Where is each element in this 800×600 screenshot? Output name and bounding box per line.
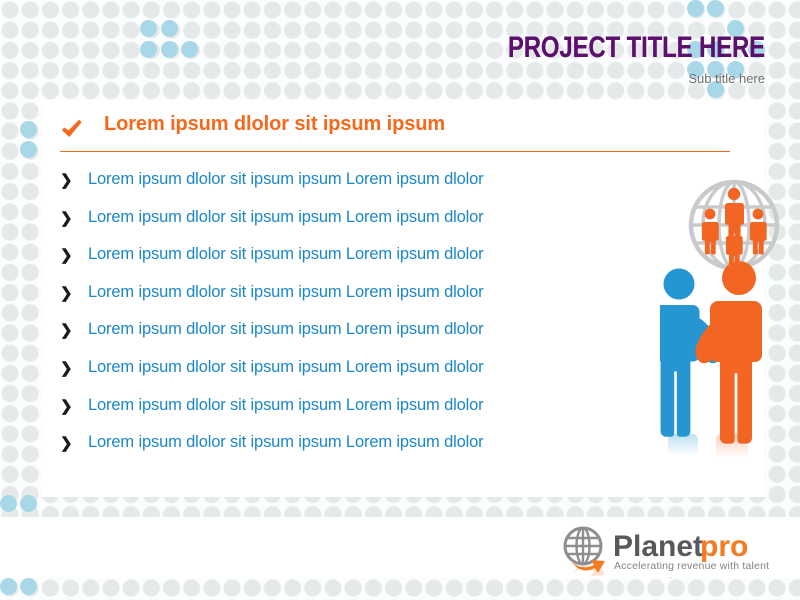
accent-dot	[161, 20, 178, 37]
dot-pattern-footer-strip	[0, 578, 800, 600]
accent-dot	[687, 0, 704, 17]
section-heading-rule	[60, 151, 730, 152]
accent-dot	[140, 20, 157, 37]
list-item-label: Lorem ipsum dlolor sit ipsum ipsum Lorem…	[88, 245, 484, 264]
logo-tagline: Accelerating revenue with talent	[614, 560, 769, 572]
list-item-label: Lorem ipsum dlolor sit ipsum ipsum Lorem…	[88, 433, 484, 452]
list-item: ❯Lorem ipsum dlolor sit ipsum ipsum Lore…	[60, 208, 620, 246]
accent-dot	[0, 578, 17, 595]
accent-dot	[707, 0, 724, 17]
chevron-right-icon: ❯	[60, 173, 73, 189]
accent-dot	[20, 121, 37, 138]
figure-right-orange	[693, 261, 762, 444]
list-item-label: Lorem ipsum dlolor sit ipsum ipsum Lorem…	[88, 320, 484, 339]
page-title: PROJECT TITLE HERE	[429, 32, 765, 64]
chevron-right-icon: ❯	[60, 211, 73, 227]
list-item-label: Lorem ipsum dlolor sit ipsum ipsum Lorem…	[88, 208, 484, 227]
chevron-right-icon: ❯	[60, 436, 73, 452]
bullet-list: ❯Lorem ipsum dlolor sit ipsum ipsum Lore…	[60, 170, 620, 471]
list-item: ❯Lorem ipsum dlolor sit ipsum ipsum Lore…	[60, 245, 620, 283]
chevron-right-icon: ❯	[60, 248, 73, 264]
chevron-right-icon: ❯	[60, 323, 73, 339]
logo-brand-pro: pro	[700, 530, 748, 563]
slide-header: PROJECT TITLE HERE Sub title here	[345, 32, 765, 86]
list-item: ❯Lorem ipsum dlolor sit ipsum ipsum Lore…	[60, 396, 620, 434]
list-item: ❯Lorem ipsum dlolor sit ipsum ipsum Lore…	[60, 433, 620, 471]
check-icon	[60, 118, 84, 142]
page-subtitle: Sub title here	[345, 71, 765, 86]
slide-root: PROJECT TITLE HERE Sub title here Lorem …	[0, 0, 800, 600]
list-item: ❯Lorem ipsum dlolor sit ipsum ipsum Lore…	[60, 358, 620, 396]
accent-dot	[20, 141, 37, 158]
footer-bar: Planet pro Accelerating revenue with tal…	[0, 517, 800, 578]
logo-brand-planet: Planet	[613, 530, 703, 563]
list-item-label: Lorem ipsum dlolor sit ipsum ipsum Lorem…	[88, 396, 484, 415]
list-item-label: Lorem ipsum dlolor sit ipsum ipsum Lorem…	[88, 358, 484, 377]
chevron-right-icon: ❯	[60, 399, 73, 415]
globe-graphic	[684, 182, 784, 268]
chevron-right-icon: ❯	[60, 286, 73, 302]
list-item-label: Lorem ipsum dlolor sit ipsum ipsum Lorem…	[88, 170, 484, 189]
logo-tagline-reflection: Accelerating revenue with talent	[614, 576, 769, 578]
accent-dot	[0, 495, 17, 512]
figure-reflections	[668, 434, 748, 458]
accent-dot	[140, 41, 157, 58]
content-panel: Lorem ipsum dlolor sit ipsum ipsum ❯Lore…	[42, 100, 765, 497]
chevron-right-icon: ❯	[60, 361, 73, 377]
section-heading: Lorem ipsum dlolor sit ipsum ipsum	[60, 113, 730, 157]
planetpro-logo: Planet pro Accelerating revenue with tal…	[558, 522, 778, 578]
accent-dot	[20, 578, 37, 595]
accent-dot	[181, 41, 198, 58]
accent-dot	[20, 495, 37, 512]
list-item: ❯Lorem ipsum dlolor sit ipsum ipsum Lore…	[60, 283, 620, 321]
list-item-label: Lorem ipsum dlolor sit ipsum ipsum Lorem…	[88, 283, 484, 302]
list-item: ❯Lorem ipsum dlolor sit ipsum ipsum Lore…	[60, 320, 620, 358]
section-heading-text: Lorem ipsum dlolor sit ipsum ipsum	[104, 113, 445, 136]
list-item: ❯Lorem ipsum dlolor sit ipsum ipsum Lore…	[60, 170, 620, 208]
accent-dot	[161, 41, 178, 58]
handshake-globe-illustration	[660, 172, 800, 497]
